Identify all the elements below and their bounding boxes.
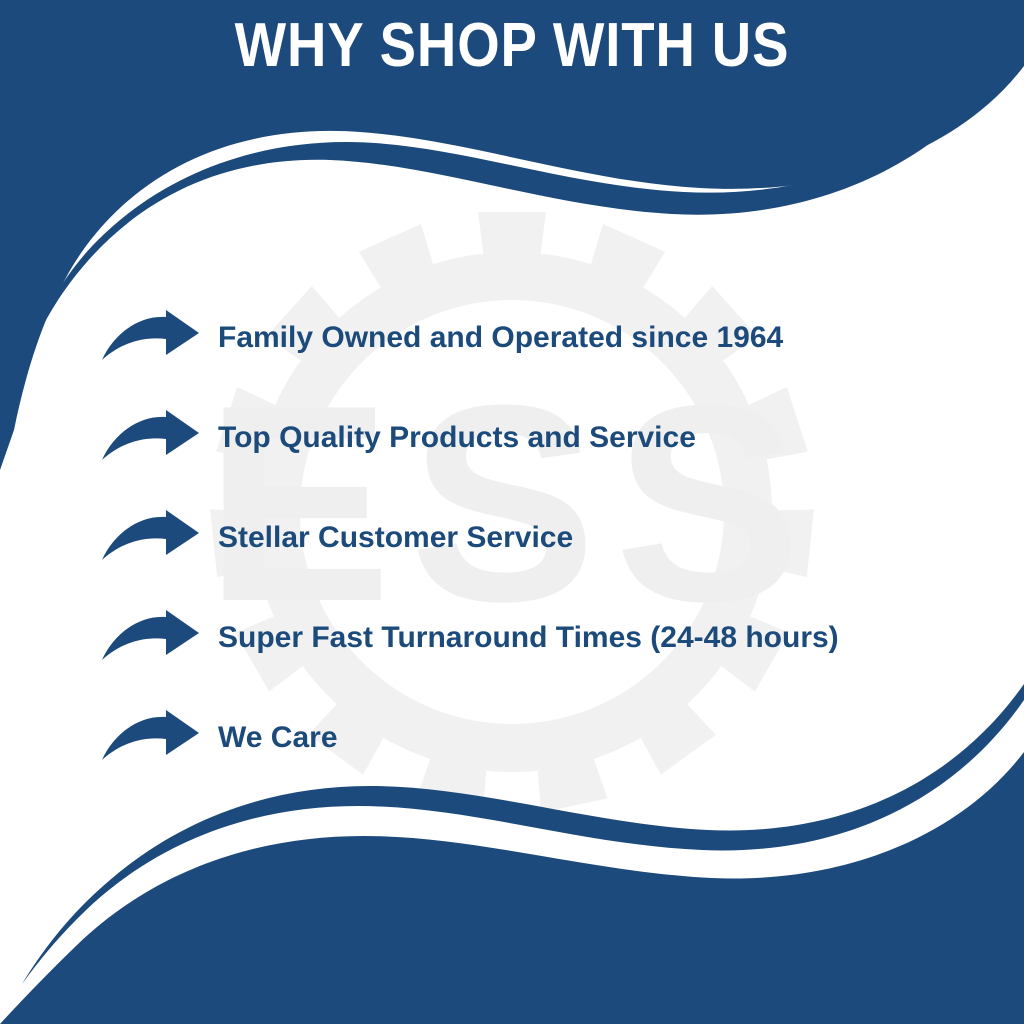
curved-arrow-right-icon (100, 509, 218, 567)
footer-wave-shape (0, 752, 1024, 1024)
list-item-label: Super Fast Turnaround Times (24-48 hours… (218, 621, 839, 655)
list-item-label: Stellar Customer Service (218, 521, 573, 555)
curved-arrow-right-icon (100, 609, 218, 667)
list-item-label: Top Quality Products and Service (218, 421, 696, 455)
list-item: Top Quality Products and Service (100, 388, 980, 488)
list-item: Family Owned and Operated since 1964 (100, 288, 980, 388)
feature-list: Family Owned and Operated since 1964 Top… (100, 288, 980, 788)
curved-arrow-right-icon (100, 709, 218, 767)
curved-arrow-right-icon (100, 409, 218, 467)
list-item: Stellar Customer Service (100, 488, 980, 588)
curved-arrow-right-icon (100, 309, 218, 367)
list-item-label: Family Owned and Operated since 1964 (218, 321, 783, 355)
why-shop-with-us-banner: ESS WHY SHOP WITH US Family Owned and Op… (0, 0, 1024, 1024)
list-item-label: We Care (218, 721, 338, 755)
list-item: We Care (100, 688, 980, 788)
page-title: WHY SHOP WITH US (61, 14, 962, 78)
list-item: Super Fast Turnaround Times (24-48 hours… (100, 588, 980, 688)
